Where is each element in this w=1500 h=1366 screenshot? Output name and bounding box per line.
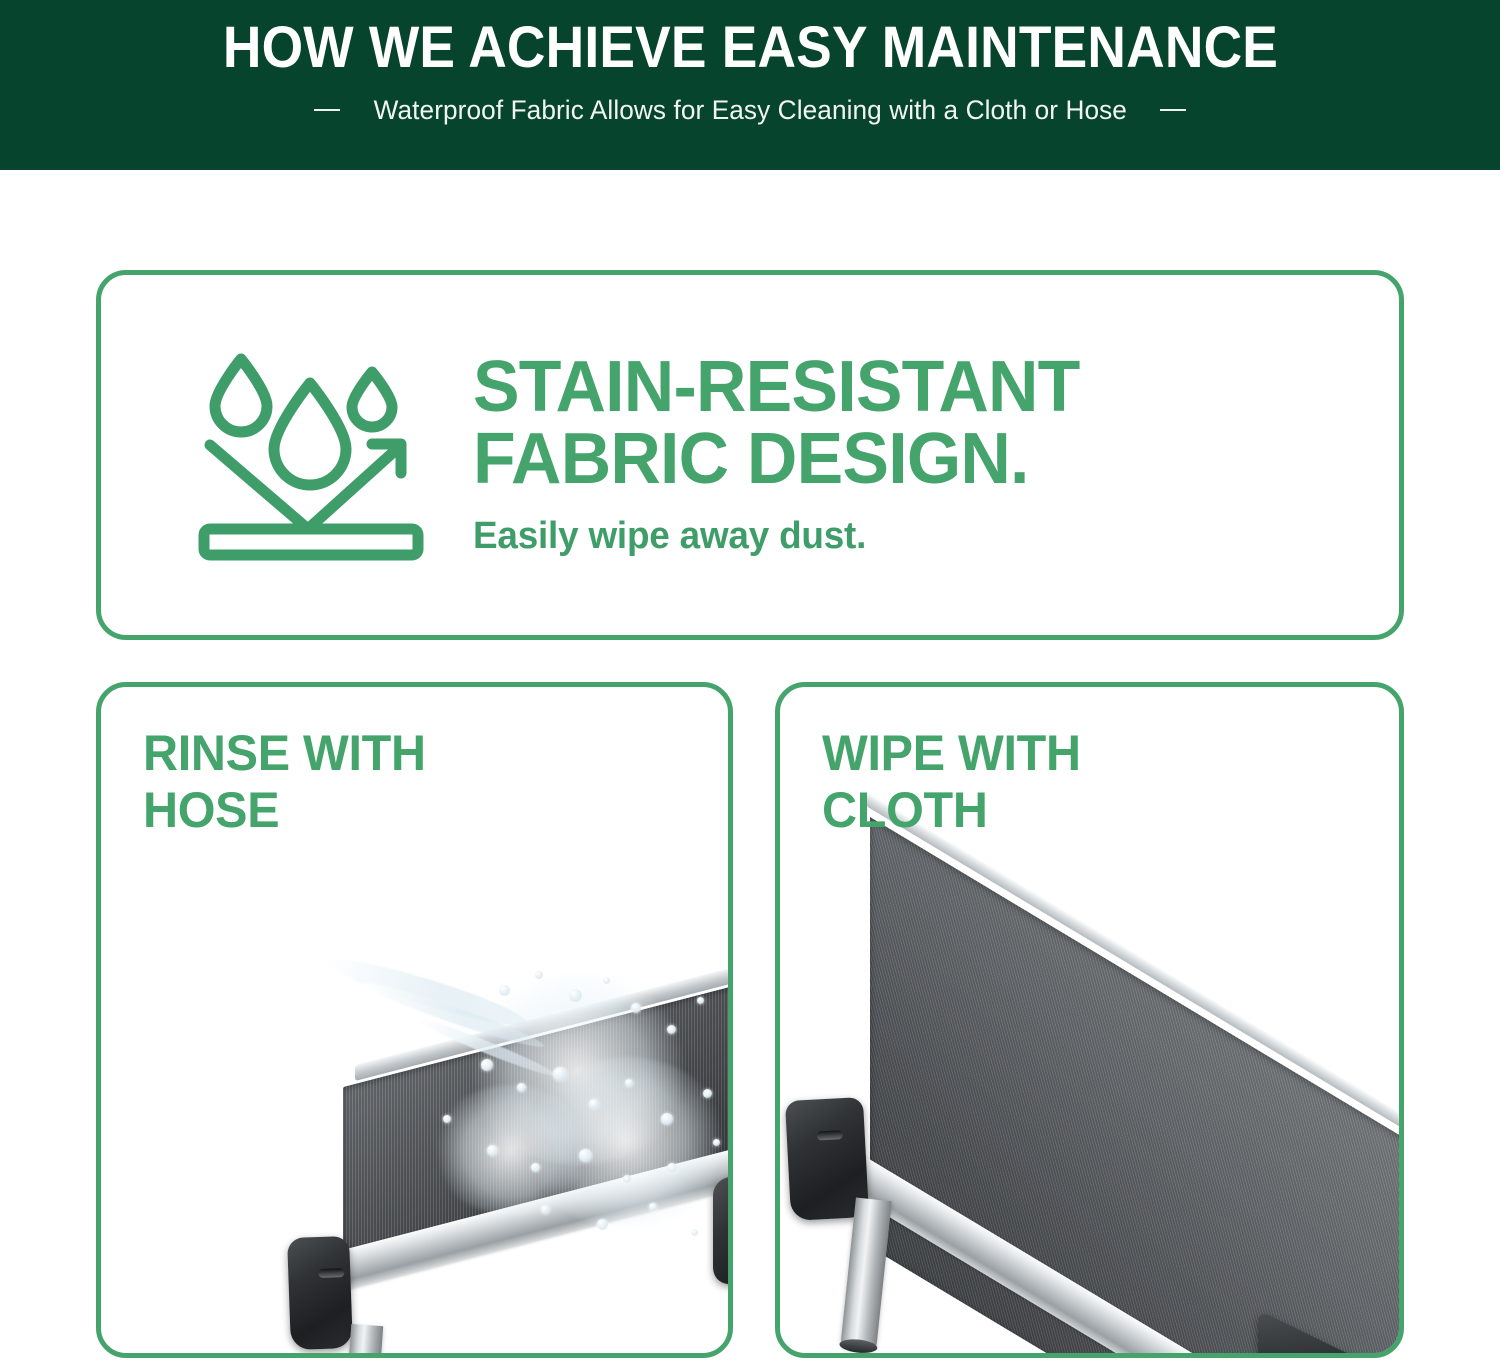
header-subtitle-row: Waterproof Fabric Allows for Easy Cleani…	[314, 95, 1187, 126]
dash-right-icon	[1160, 109, 1186, 111]
page-title: HOW WE ACHIEVE EASY MAINTENANCE	[222, 18, 1277, 79]
water-repellent-fabric-icon	[161, 325, 461, 585]
water-splash	[331, 967, 728, 1257]
stain-card-subtext: Easily wipe away dust.	[473, 515, 1080, 558]
dash-left-icon	[314, 109, 340, 111]
stain-card-text: STAIN-RESISTANT FABRIC DESIGN. Easily wi…	[473, 352, 1098, 558]
infographic-page: HOW WE ACHIEVE EASY MAINTENANCE Waterpro…	[0, 0, 1500, 1366]
cot-mesh-surface	[870, 817, 1399, 1353]
wipe-with-cloth-card: WIPE WITH CLOTH	[775, 682, 1404, 1358]
corner-slot-icon	[817, 1130, 843, 1140]
water-repellent-fabric-icon-svg	[186, 343, 436, 568]
corner-slot-icon	[318, 1268, 344, 1278]
header-banner: HOW WE ACHIEVE EASY MAINTENANCE Waterpro…	[0, 0, 1500, 170]
stain-card-heading: STAIN-RESISTANT FABRIC DESIGN.	[473, 352, 1080, 495]
stain-resistant-card: STAIN-RESISTANT FABRIC DESIGN. Easily wi…	[96, 270, 1404, 640]
rinse-with-hose-card: RINSE WITH HOSE	[96, 682, 733, 1358]
cot-leg	[840, 1198, 891, 1351]
wipe-card-title: WIPE WITH CLOTH	[822, 725, 1081, 838]
page-subtitle: Waterproof Fabric Allows for Easy Cleani…	[373, 95, 1126, 126]
rinse-card-title: RINSE WITH HOSE	[143, 725, 426, 838]
